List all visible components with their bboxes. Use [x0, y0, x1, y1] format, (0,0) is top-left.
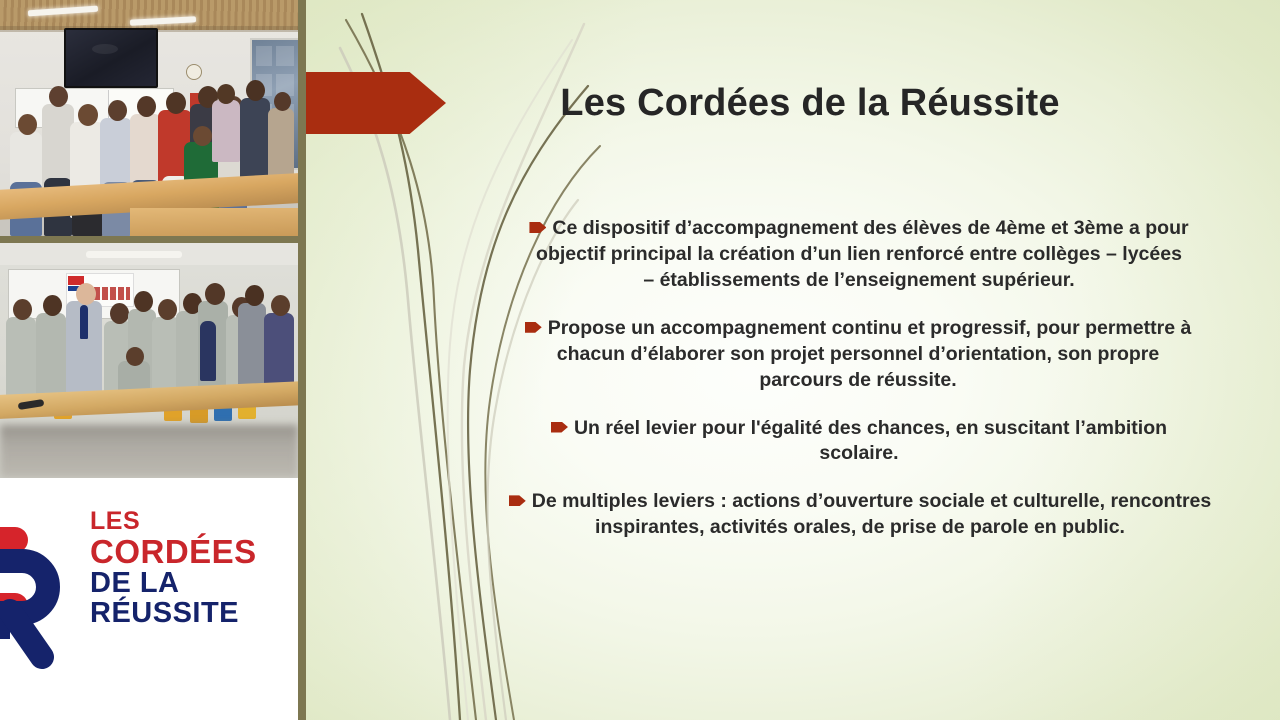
slide: LES CORDÉES DE LA RÉUSSITE Les Cordées d…: [0, 0, 1280, 720]
photo-column: LES CORDÉES DE LA RÉUSSITE: [0, 0, 298, 720]
logo-line-2: CORDÉES: [90, 535, 280, 569]
page-title: Les Cordées de la Réussite: [460, 72, 1160, 134]
bullet-item: Un réel levier pour l'égalité des chance…: [529, 416, 1189, 468]
les-cordees-de-la-reussite-logo: LES CORDÉES DE LA RÉUSSITE: [0, 485, 285, 720]
bullet-text: Ce dispositif d’accompagnement des élève…: [536, 217, 1189, 291]
flag-bullet-icon: [551, 422, 568, 433]
logo-wordmark: LES CORDÉES DE LA RÉUSSITE: [90, 509, 280, 628]
bullet-text: Propose un accompagnement continu et pro…: [548, 317, 1192, 391]
classroom-group-photo: [0, 0, 298, 236]
school-uniform-group-photo: [0, 243, 298, 478]
flag-bullet-icon: [509, 495, 526, 506]
logo-line-4: RÉUSSITE: [90, 599, 280, 629]
cordees-logo-mark-icon: [0, 521, 76, 669]
bullet-item: De multiples leviers : actions d’ouvertu…: [505, 489, 1215, 541]
bullet-item: Propose un accompagnement continu et pro…: [513, 316, 1203, 394]
bullet-item: Ce dispositif d’accompagnement des élève…: [529, 216, 1189, 294]
bullet-text: De multiples leviers : actions d’ouvertu…: [532, 490, 1211, 538]
photo-divider: [0, 236, 298, 243]
flag-bullet-icon: [529, 222, 546, 233]
logo-line-1: LES: [90, 509, 280, 535]
bullet-text: Un réel levier pour l'égalité des chance…: [574, 417, 1167, 465]
logo-line-3: DE LA: [90, 569, 280, 599]
flag-bullet-icon: [525, 322, 542, 333]
olive-divider-band: [298, 0, 306, 720]
body-content: Ce dispositif d’accompagnement des élève…: [505, 216, 1245, 555]
